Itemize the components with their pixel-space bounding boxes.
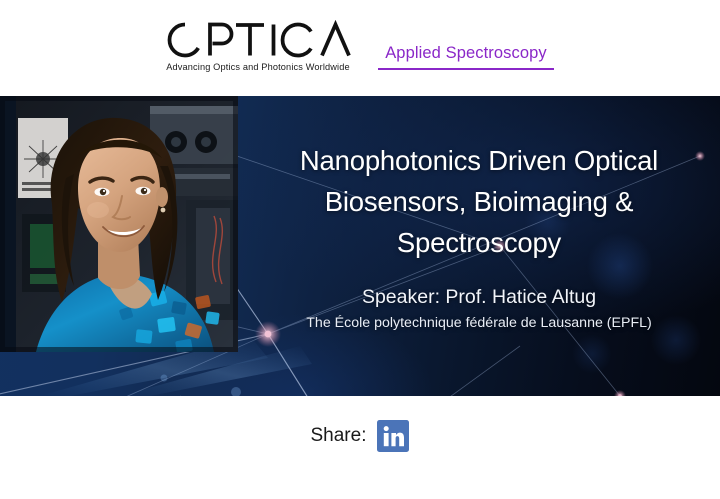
talk-title: Nanophotonics Driven Optical Biosensors,… bbox=[244, 140, 714, 263]
journal-underline-rule bbox=[378, 68, 554, 70]
journal-title-block: Applied Spectroscopy bbox=[378, 44, 554, 70]
optica-tagline: Advancing Optics and Photonics Worldwide bbox=[163, 62, 353, 72]
speaker-name: Speaker: Prof. Hatice Altug bbox=[244, 286, 714, 309]
optica-wordmark-icon bbox=[163, 20, 353, 60]
header: Advancing Optics and Photonics Worldwide… bbox=[0, 0, 720, 96]
linkedin-share-button[interactable] bbox=[377, 420, 409, 452]
speaker-portrait-photo bbox=[0, 96, 238, 352]
share-label: Share: bbox=[311, 425, 367, 447]
banner-text-block: Nanophotonics Driven Optical Biosensors,… bbox=[238, 96, 720, 396]
journal-name: Applied Spectroscopy bbox=[378, 44, 554, 63]
optica-logo[interactable]: Advancing Optics and Photonics Worldwide bbox=[163, 20, 353, 72]
hero-banner: Nanophotonics Driven Optical Biosensors,… bbox=[0, 96, 720, 396]
linkedin-icon bbox=[377, 420, 409, 452]
webinar-promo-card: Advancing Optics and Photonics Worldwide… bbox=[0, 0, 720, 499]
speaker-affiliation: The École polytechnique fédérale de Laus… bbox=[244, 315, 714, 331]
footer: Share: bbox=[0, 396, 720, 499]
share-row: Share: bbox=[0, 420, 720, 452]
